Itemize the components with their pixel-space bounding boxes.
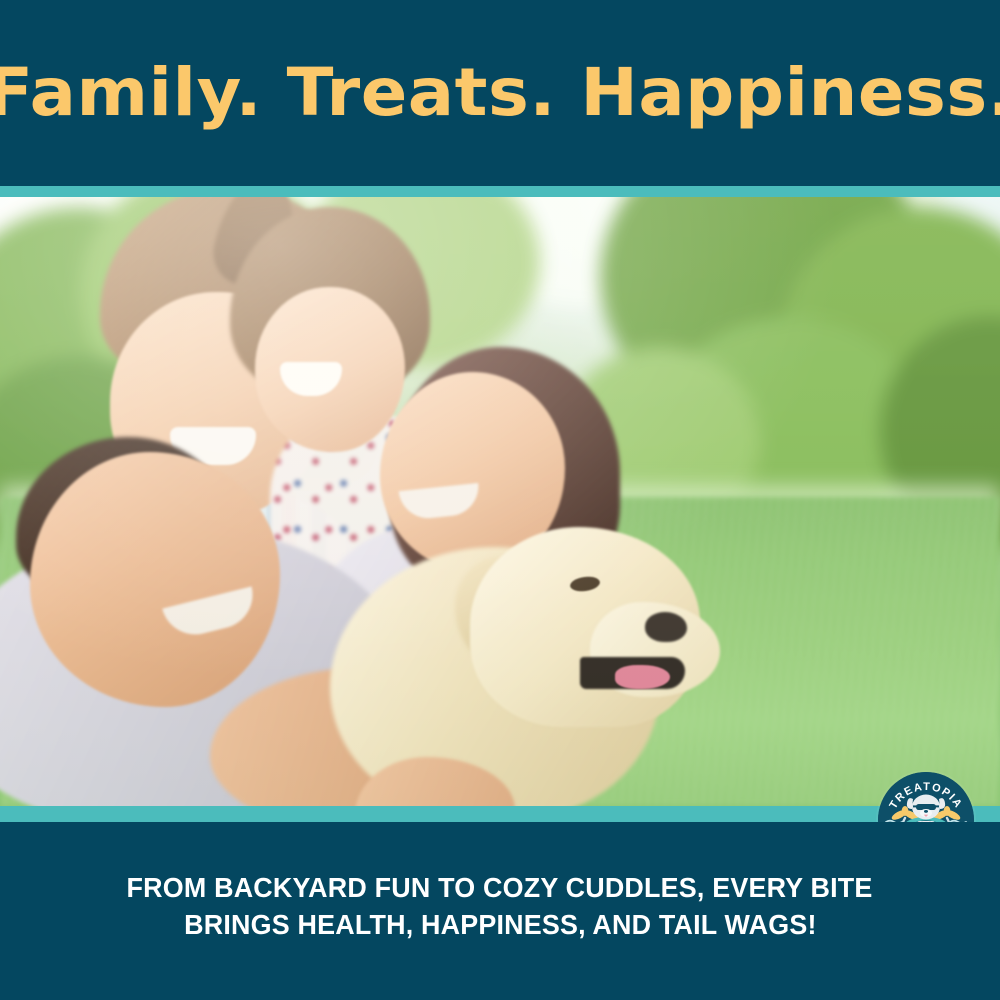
hero-photo bbox=[0, 197, 1000, 806]
caption-line-1: FROM BACKYARD FUN TO COZY CUDDLES, EVERY… bbox=[127, 870, 873, 907]
poster-canvas: Family. Treats. Happiness. bbox=[0, 0, 1000, 1000]
divider-stripe-bottom bbox=[0, 806, 1000, 822]
page-title: Family. Treats. Happiness. bbox=[0, 60, 1000, 126]
caption-line-2: BRINGS HEALTH, HAPPINESS, AND TAIL WAGS! bbox=[184, 907, 816, 944]
header-band: Family. Treats. Happiness. bbox=[0, 0, 1000, 186]
photo-father-head bbox=[30, 452, 280, 707]
photo-dog-nose bbox=[645, 612, 687, 642]
photo-family-group bbox=[0, 197, 1000, 806]
photo-dog-tongue bbox=[615, 665, 670, 689]
divider-stripe-top bbox=[0, 186, 1000, 197]
caption-band: FROM BACKYARD FUN TO COZY CUDDLES, EVERY… bbox=[0, 822, 1000, 1000]
